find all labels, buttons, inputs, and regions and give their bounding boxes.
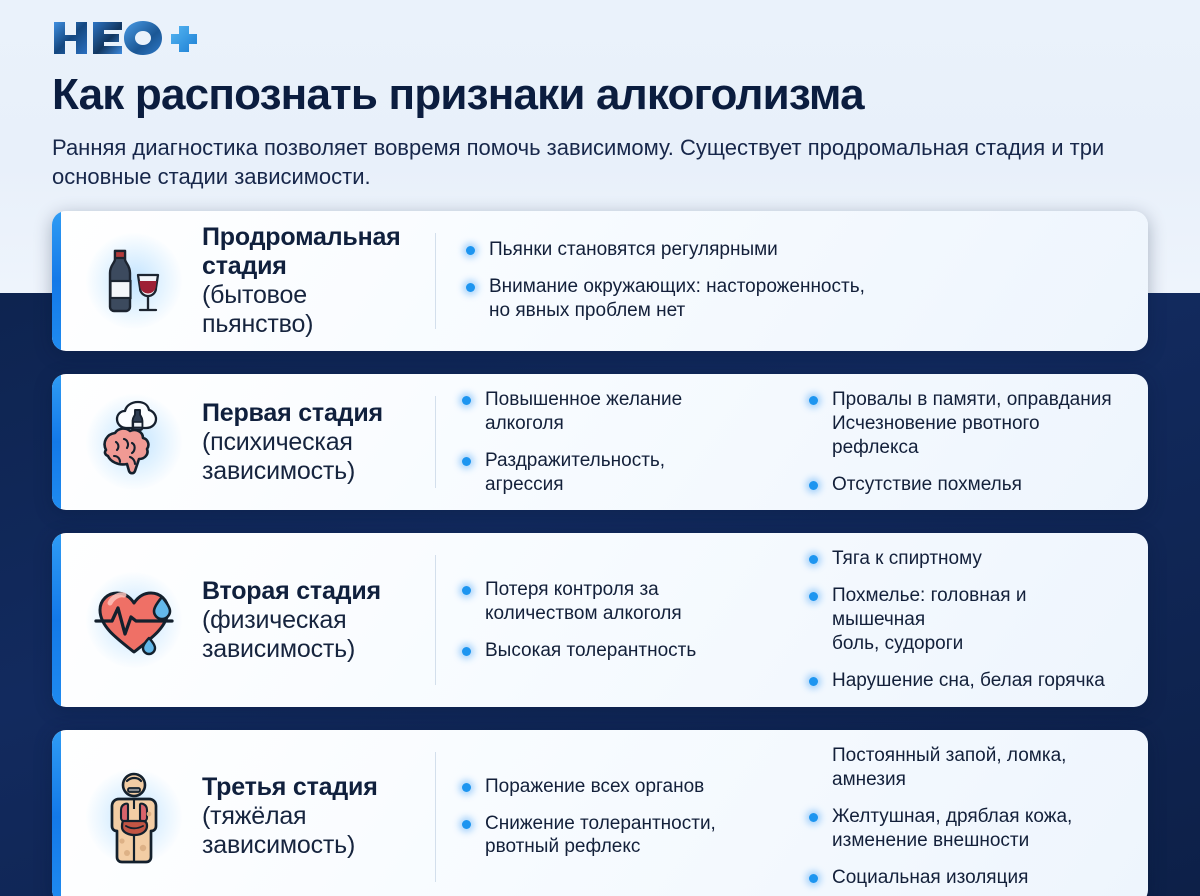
list-item: Повышенное желание алкоголя	[462, 388, 773, 436]
list-item: Потеря контроля за количеством алкоголя	[462, 578, 773, 626]
stage-card-prodromal[interactable]: Продромальная стадия (бытовое пьянство) …	[52, 211, 1148, 351]
bullet-text: Снижение толерантности,	[485, 813, 716, 834]
bullet-column: Потеря контроля за количеством алкоголя …	[436, 578, 783, 663]
bullet-text: Отсутствие похмелья	[832, 474, 1022, 495]
stage-card-second[interactable]: Вторая стадия (физическая зависимость) П…	[52, 533, 1148, 707]
list-item: Постоянный запой, ломка, амнезия	[809, 744, 1120, 792]
infographic-page: Как распознать признаки алкоголизма Ранн…	[0, 0, 1200, 896]
list-item: Провалы в памяти, оправдания Исчезновени…	[809, 388, 1120, 460]
bullet-column: Повышенное желание алкоголя Раздражитель…	[436, 388, 783, 497]
stage-card-header: Третья стадия (тяжёлая зависимость)	[52, 730, 435, 896]
brand-logo	[52, 16, 1148, 60]
bullet-text: Постоянный запой, ломка, амнезия	[832, 745, 1066, 790]
stage-card-body: Повышенное желание алкоголя Раздражитель…	[436, 374, 1148, 511]
bullet-continuation: боль, судороги	[832, 632, 1120, 656]
bullet-column: Поражение всех органов Снижение толерант…	[436, 775, 783, 860]
bullet-continuation: алкоголя	[485, 412, 773, 436]
stage-label: Вторая стадия (физическая зависимость)	[202, 577, 421, 664]
stage-card-body: Потеря контроля за количеством алкоголя …	[436, 533, 1148, 707]
stage-card-header: Первая стадия (психическая зависимость)	[52, 374, 435, 511]
stage-name: Вторая стадия	[202, 577, 421, 606]
bullet-text: Поражение всех органов	[485, 776, 704, 797]
stage-sub: (физическая зависимость)	[202, 606, 421, 664]
list-item: Снижение толерантности, рвотный рефлекс	[462, 812, 773, 860]
list-item: Отсутствие похмелья	[809, 473, 1120, 497]
heo-plus-logo-icon	[52, 18, 202, 58]
stage-name: Продромальная стадия	[202, 223, 421, 281]
stage-name: Третья стадия	[202, 773, 421, 802]
bullet-column: Провалы в памяти, оправдания Исчезновени…	[783, 388, 1130, 497]
list-item: Раздражительность, агрессия	[462, 449, 773, 497]
stage-card-list: Продромальная стадия (бытовое пьянство) …	[52, 211, 1148, 896]
page-title: Как распознать признаки алкоголизма	[52, 72, 1148, 119]
stage-card-body: Поражение всех органов Снижение толерант…	[436, 730, 1148, 896]
bullet-text: Похмелье: головная и мышечная	[832, 585, 1026, 630]
list-item: Поражение всех органов	[462, 775, 773, 799]
stage-card-first[interactable]: Первая стадия (психическая зависимость) …	[52, 374, 1148, 511]
list-item: Желтушная, дряблая кожа, изменение внешн…	[809, 805, 1120, 853]
heart-with-pulse-icon	[82, 568, 186, 672]
stage-label: Третья стадия (тяжёлая зависимость)	[202, 773, 421, 860]
bullet-continuation: рвотный рефлекс	[485, 835, 773, 859]
list-item: Тяга к спиртному	[809, 547, 1120, 571]
bullet-text: Желтушная, дряблая кожа,	[832, 806, 1072, 827]
list-item: Высокая толерантность	[462, 639, 773, 663]
stage-name: Первая стадия	[202, 399, 421, 428]
bullet-column: Тяга к спиртному Похмелье: головная и мы…	[783, 547, 1130, 693]
page-header: Как распознать признаки алкоголизма Ранн…	[52, 0, 1148, 191]
brain-with-thought-bubble-icon	[82, 390, 186, 494]
bullet-text: Внимание окружающих: настороженность,	[489, 276, 865, 297]
bullet-text: Социальная изоляция	[832, 867, 1028, 888]
bullet-text: Пьянки становятся регулярными	[489, 239, 778, 260]
bullet-continuation: Исчезновение рвотного рефлекса	[832, 412, 1120, 460]
stage-label: Первая стадия (психическая зависимость)	[202, 399, 421, 486]
stage-sub: (психическая зависимость)	[202, 428, 421, 486]
stage-label: Продромальная стадия (бытовое пьянство)	[202, 223, 421, 339]
stage-sub: (тяжёлая зависимость)	[202, 802, 421, 860]
bullet-text: Провалы в памяти, оправдания	[832, 389, 1112, 410]
bullet-continuation: но явных проблем нет	[489, 299, 1120, 323]
stage-card-header: Продромальная стадия (бытовое пьянство)	[52, 211, 435, 351]
bullet-text: Высокая толерантность	[485, 640, 696, 661]
list-item: Похмелье: головная и мышечная боль, судо…	[809, 584, 1120, 656]
stage-card-third[interactable]: Третья стадия (тяжёлая зависимость) Пора…	[52, 730, 1148, 896]
stage-sub: (бытовое пьянство)	[202, 281, 421, 339]
stage-card-header: Вторая стадия (физическая зависимость)	[52, 533, 435, 707]
bullet-column: Постоянный запой, ломка, амнезия Желтушн…	[783, 744, 1130, 890]
bullet-column: Пьянки становятся регулярными Внимание о…	[436, 238, 1130, 323]
bullet-text: Повышенное желание	[485, 389, 682, 410]
bullet-continuation: агрессия	[485, 473, 773, 497]
list-item: Пьянки становятся регулярными	[466, 238, 1120, 262]
bullet-text: Раздражительность,	[485, 450, 665, 471]
bullet-text: Нарушение сна, белая горячка	[832, 670, 1105, 691]
bullet-continuation: изменение внешности	[832, 829, 1120, 853]
list-item: Социальная изоляция	[809, 866, 1120, 890]
stage-card-body: Пьянки становятся регулярными Внимание о…	[436, 211, 1148, 351]
bullet-text: Потеря контроля за	[485, 579, 659, 600]
bullet-continuation: количеством алкоголя	[485, 602, 773, 626]
page-subtitle: Ранняя диагностика позволяет вовремя пом…	[52, 133, 1112, 191]
bullet-text: Тяга к спиртному	[832, 548, 982, 569]
list-item: Нарушение сна, белая горячка	[809, 669, 1120, 693]
human-body-organs-icon	[82, 765, 186, 869]
list-item: Внимание окружающих: настороженность, но…	[466, 275, 1120, 323]
wine-bottle-and-glass-icon	[82, 229, 186, 333]
